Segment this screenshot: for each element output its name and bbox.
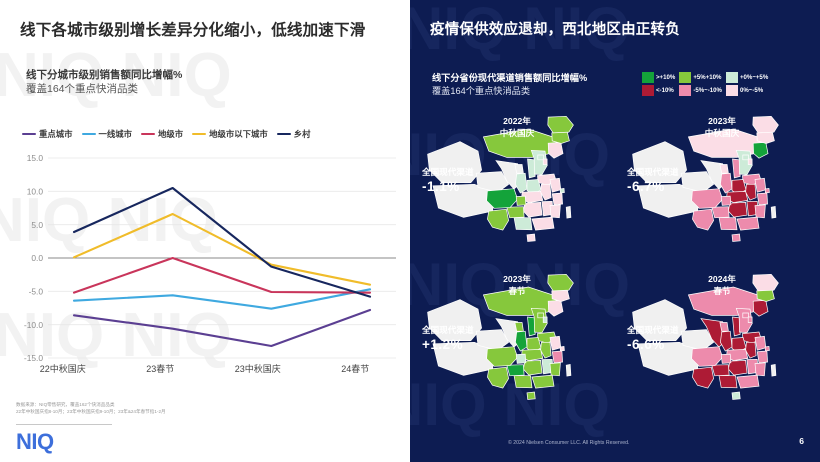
map-province-yn: [692, 367, 713, 388]
map-legend-swatch-icon: [679, 72, 691, 83]
map-province-sh: [560, 188, 564, 192]
map-province-tw: [771, 364, 776, 376]
map-province-zj: [757, 193, 767, 205]
chart-legend-swatch-icon: [192, 133, 206, 136]
map-year: 2023年: [677, 116, 767, 128]
chart-series-line-4: [74, 188, 370, 297]
map-province-gd: [532, 217, 554, 230]
map-province-ln: [753, 142, 768, 158]
map-province-zj: [757, 351, 767, 363]
chart-legend-swatch-icon: [277, 133, 291, 136]
left-subtitle-line1: 线下分城市级别销售额同比增幅%: [26, 68, 396, 82]
chart-legend-swatch-icon: [82, 133, 96, 136]
map-province-fj: [550, 363, 560, 376]
map-province-tj: [748, 317, 752, 323]
map-festival: 中秋国庆: [677, 128, 767, 140]
map-province-yn: [487, 209, 508, 230]
map-province-ln: [548, 142, 563, 158]
chart-legend-swatch-icon: [141, 133, 155, 136]
map-stat-label: 全国现代渠道: [422, 324, 532, 336]
logo-divider: [16, 424, 112, 425]
map-province-sh: [765, 188, 769, 192]
map-period-label: 2023年中秋国庆: [677, 116, 767, 139]
chart-legend-label: 乡村: [294, 128, 311, 140]
niq-logo: NIQ: [16, 431, 136, 453]
map-stat-value: -6.7%: [627, 178, 737, 195]
right-panel: NIQ NIQ NIQ NIQ NIQ NIQ NIQ NIQ 疫情保供效应退却…: [410, 0, 820, 462]
chart-legend: 重点城市一线城市地级市地级市以下城市乡村: [22, 128, 400, 140]
map-province-gz: [712, 207, 729, 218]
chart-x-tick-label-2: 23中秋国庆: [209, 362, 307, 380]
map-province-gx: [719, 217, 737, 229]
source-note-line1: 数据来源：NIQ零售研究，覆盖162个快消品品类: [16, 401, 356, 408]
map-province-gd: [737, 375, 759, 388]
map-province-tj: [748, 159, 752, 165]
right-subtitle-line1: 线下分省份现代渠道销售额同比增幅%: [432, 72, 642, 85]
map-legend-swatch-icon: [726, 85, 738, 96]
map-province-gd: [532, 375, 554, 388]
map-legend-swatch-icon: [642, 72, 654, 83]
map-province-tw: [771, 206, 776, 218]
chart-legend-label: 地级市: [158, 128, 183, 140]
map-province-sh: [765, 346, 769, 350]
map-legend-item-4[interactable]: +0%~+5%: [726, 72, 768, 83]
chart-x-tick-label-1: 23春节: [112, 362, 210, 380]
right-panel-title: 疫情保供效应退却，西北地区由正转负: [430, 18, 810, 39]
map-province-tw: [566, 206, 571, 218]
map-province-js: [755, 336, 766, 350]
line-chart: 15.010.05.00.0-5.0-10.0-15.0: [14, 152, 404, 364]
map-province-js: [755, 178, 766, 192]
map-province-cq: [721, 196, 731, 205]
map-legend: >+10%<-10%+5%+10%-5%~-10%+0%~+5%0%~-5%: [642, 72, 816, 96]
map-stat-value: -6.6%: [627, 336, 737, 353]
map-province-fj: [755, 205, 765, 218]
chart-x-tick-label-0: 22中秋国庆: [14, 362, 112, 380]
chart-legend-item-4[interactable]: 乡村: [277, 128, 311, 140]
map-festival: 春节: [677, 286, 767, 298]
map-legend-column-1: +5%+10%-5%~-10%: [679, 72, 722, 96]
map-legend-swatch-icon: [679, 85, 691, 96]
map-province-cq: [516, 196, 526, 205]
map-province-tw: [566, 364, 571, 376]
niq-logo-wrap: NIQ: [16, 424, 136, 453]
map-legend-item-0[interactable]: >+10%: [642, 72, 675, 83]
map-card-2: 2023年春节全国现代渠道+1.2%: [410, 262, 615, 430]
map-province-bj: [743, 155, 749, 160]
map-province-tj: [543, 317, 547, 323]
map-province-hain: [732, 392, 740, 400]
map-province-js: [550, 336, 561, 350]
chart-x-tick-label-3: 24春节: [307, 362, 405, 380]
map-festival: 春节: [472, 286, 562, 298]
source-note-line2: 22年中秋国庆指8-10月；23年中秋国庆指9-10月；23年&24年春节指1-…: [16, 408, 356, 415]
map-year: 2023年: [472, 274, 562, 286]
left-panel-title: 线下各城市级别增长差异分化缩小，低线加速下滑: [20, 18, 400, 40]
map-legend-label: >+10%: [656, 74, 675, 81]
map-province-gz: [507, 207, 524, 218]
map-province-hain: [527, 392, 535, 400]
map-legend-label: +0%~+5%: [740, 74, 768, 81]
map-province-yn: [487, 367, 508, 388]
chart-y-tick-label: -5.0: [29, 287, 44, 297]
map-legend-item-3[interactable]: -5%~-10%: [679, 85, 722, 96]
map-national-stat: 全国现代渠道-6.7%: [627, 166, 737, 195]
map-stat-label: 全国现代渠道: [627, 324, 737, 336]
right-panel-subtitle: 线下分省份现代渠道销售额同比增幅% 覆盖164个重点快消品类: [432, 72, 642, 97]
map-province-gd: [737, 217, 759, 230]
map-province-gx: [514, 217, 532, 229]
chart-y-tick-labels: 15.010.05.00.0-5.0-10.0-15.0: [24, 153, 43, 363]
map-card-0: 2022年中秋国庆全国现代渠道-1.1%: [410, 104, 615, 272]
line-chart-svg: 15.010.05.00.0-5.0-10.0-15.0: [14, 152, 404, 364]
left-subtitle-line2: 覆盖164个重点快消品类: [26, 82, 396, 96]
map-stat-label: 全国现代渠道: [422, 166, 532, 178]
map-province-fj: [755, 363, 765, 376]
chart-legend-item-0[interactable]: 重点城市: [22, 128, 73, 140]
map-stat-label: 全国现代渠道: [627, 166, 737, 178]
map-province-gx: [719, 375, 737, 387]
map-legend-swatch-icon: [726, 72, 738, 83]
chart-y-tick-label: 10.0: [27, 187, 44, 197]
left-panel-subtitle: 线下分城市级别销售额同比增幅% 覆盖164个重点快消品类: [26, 68, 396, 96]
map-province-tj: [543, 159, 547, 165]
map-stat-value: -1.1%: [422, 178, 532, 195]
chart-y-tick-label: 0.0: [31, 253, 43, 263]
map-province-yn: [692, 209, 713, 230]
map-year: 2022年: [472, 116, 562, 128]
map-province-gz: [712, 365, 729, 376]
map-legend-label: 0%~-5%: [740, 87, 763, 94]
chart-legend-label: 重点城市: [39, 128, 73, 140]
copyright-text: © 2024 Nielsen Consumer LLC. All Rights …: [508, 440, 629, 446]
chart-gridlines: [48, 158, 396, 358]
map-province-js: [550, 178, 561, 192]
map-province-cq: [721, 354, 731, 363]
map-stat-value: +1.2%: [422, 336, 532, 353]
map-province-sh: [560, 346, 564, 350]
map-legend-label: <-10%: [656, 87, 674, 94]
map-legend-label: -5%~-10%: [693, 87, 722, 94]
map-province-fj: [550, 205, 560, 218]
map-national-stat: 全国现代渠道-6.6%: [627, 324, 737, 353]
map-province-bj: [538, 313, 544, 318]
map-national-stat: 全国现代渠道-1.1%: [422, 166, 532, 195]
right-subtitle-line2: 覆盖164个重点快消品类: [432, 85, 642, 98]
chart-y-tick-label: -10.0: [24, 320, 43, 330]
source-note: 数据来源：NIQ零售研究，覆盖162个快消品品类 22年中秋国庆指8-10月；2…: [16, 401, 356, 416]
chart-legend-label: 地级市以下城市: [209, 128, 268, 140]
map-card-3: 2024年春节全国现代渠道-6.6%: [615, 262, 820, 430]
chart-x-axis-labels: 22中秋国庆23春节23中秋国庆24春节: [14, 362, 404, 380]
map-province-gz: [507, 365, 524, 376]
map-province-gx: [514, 375, 532, 387]
slide-root: NIQ NIQ NIQ NIQ NIQ NIQ 线下各城市级别增长差异分化缩小，…: [0, 0, 820, 462]
map-legend-column-0: >+10%<-10%: [642, 72, 675, 96]
map-legend-label: +5%+10%: [693, 74, 721, 81]
map-legend-item-5[interactable]: 0%~-5%: [726, 85, 768, 96]
map-period-label: 2023年春节: [472, 274, 562, 297]
map-province-cq: [516, 354, 526, 363]
chart-legend-swatch-icon: [22, 133, 36, 136]
chart-legend-label: 一线城市: [99, 128, 133, 140]
map-province-zj: [552, 351, 562, 363]
map-province-hain: [732, 234, 740, 242]
chart-legend-item-3[interactable]: 地级市以下城市: [192, 128, 268, 140]
chart-y-tick-label: 5.0: [31, 220, 43, 230]
map-province-bj: [538, 155, 544, 160]
map-year: 2024年: [677, 274, 767, 286]
map-province-ln: [753, 300, 768, 316]
left-panel: NIQ NIQ NIQ NIQ NIQ NIQ 线下各城市级别增长差异分化缩小，…: [0, 0, 410, 462]
map-period-label: 2024年春节: [677, 274, 767, 297]
page-number: 6: [799, 436, 804, 446]
chart-legend-item-1[interactable]: 一线城市: [82, 128, 133, 140]
map-legend-item-2[interactable]: +5%+10%: [679, 72, 722, 83]
map-period-label: 2022年中秋国庆: [472, 116, 562, 139]
chart-series-line-0: [74, 310, 370, 346]
map-national-stat: 全国现代渠道+1.2%: [422, 324, 532, 353]
map-legend-swatch-icon: [642, 85, 654, 96]
map-province-hain: [527, 234, 535, 242]
chart-y-tick-label: 15.0: [27, 153, 44, 163]
map-legend-item-1[interactable]: <-10%: [642, 85, 675, 96]
map-province-zj: [552, 193, 562, 205]
map-province-bj: [743, 313, 749, 318]
map-province-ln: [548, 300, 563, 316]
chart-series-lines: [74, 188, 370, 346]
chart-legend-item-2[interactable]: 地级市: [141, 128, 183, 140]
map-legend-column-2: +0%~+5%0%~-5%: [726, 72, 768, 96]
map-card-1: 2023年中秋国庆全国现代渠道-6.7%: [615, 104, 820, 272]
map-festival: 中秋国庆: [472, 128, 562, 140]
